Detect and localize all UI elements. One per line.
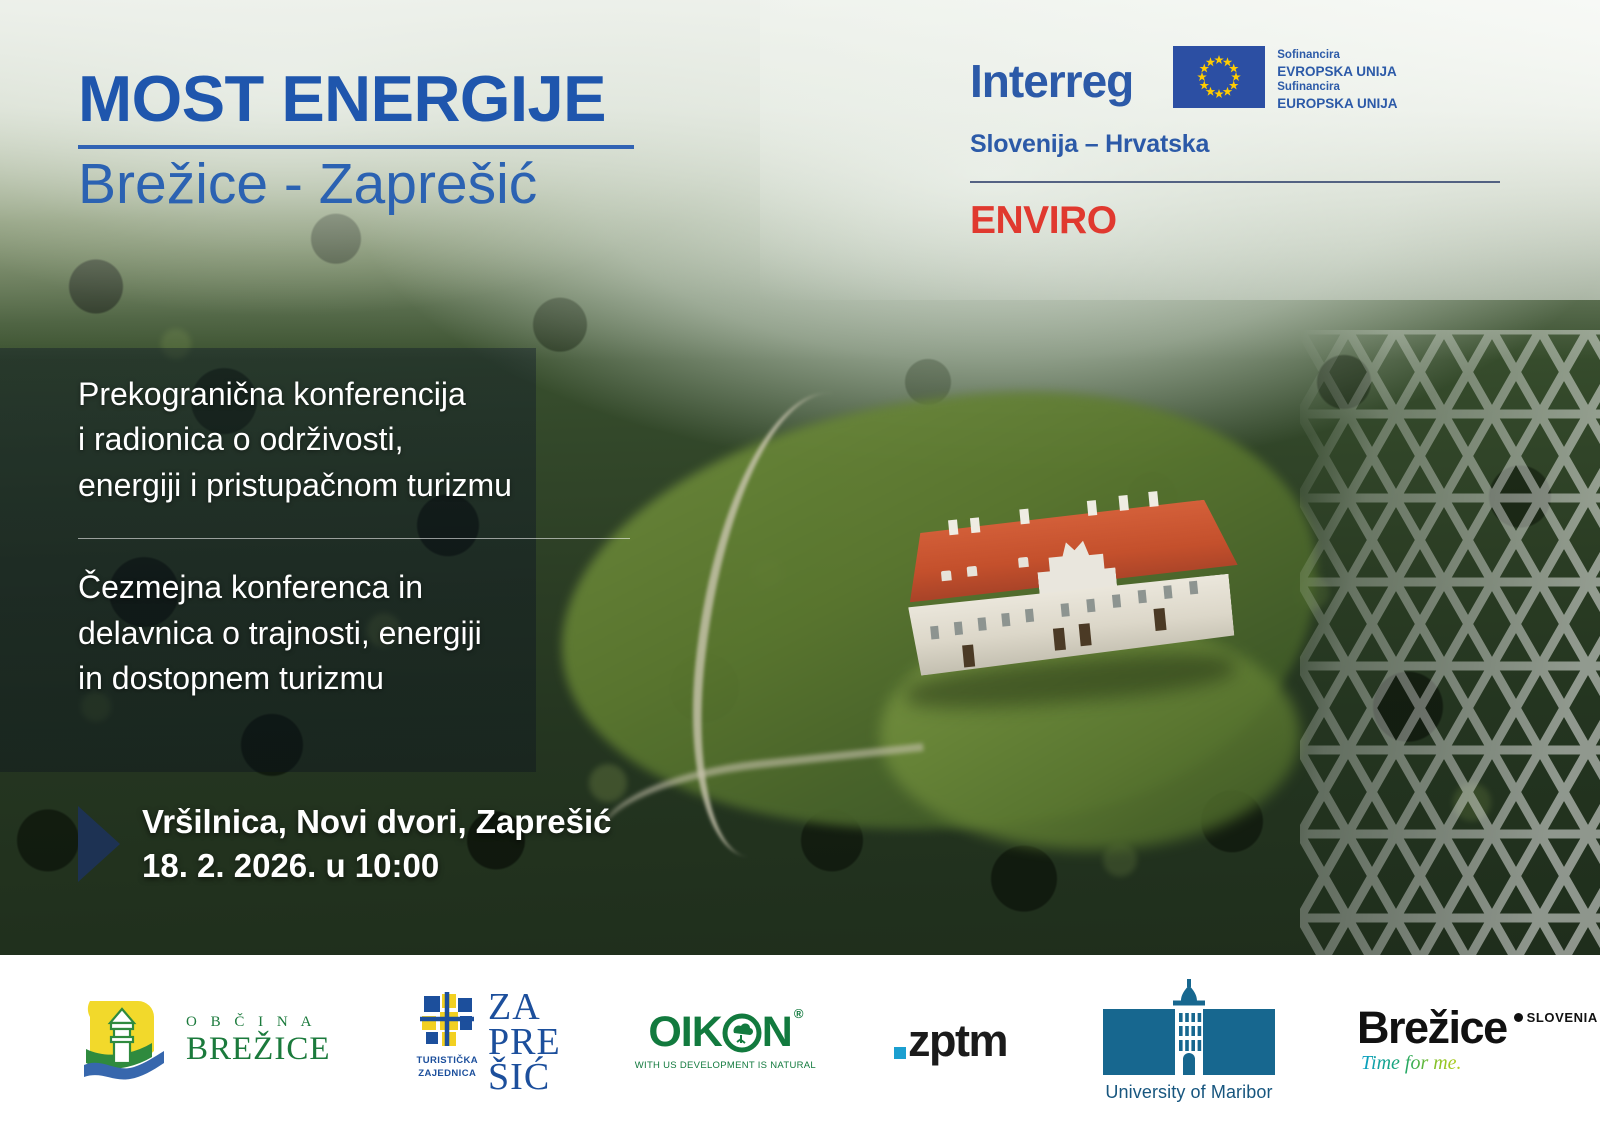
university-of-maribor-building-icon — [1103, 979, 1275, 1075]
manor-dormer — [941, 570, 952, 581]
paragraph-slovenian: Čezmejna konferenca in delavnica o trajn… — [78, 565, 688, 701]
body-text-block: Prekogranična konferencija i radionica o… — [78, 372, 688, 702]
manor-dormer — [1018, 557, 1029, 568]
manor-window — [1163, 585, 1172, 599]
zptm-dot-icon — [894, 1047, 906, 1059]
logo-obcina-brezice: O B Č I N A BREŽICE — [76, 991, 331, 1091]
eu-cofunding-sl-label: Sofinancira — [1277, 48, 1397, 63]
european-union-flag-icon — [1173, 46, 1265, 108]
brezice-wordmark: Brežice — [1357, 1006, 1507, 1049]
oikon-word-post: N — [762, 1011, 792, 1054]
manor-chimney — [1148, 491, 1158, 507]
manor-door — [1053, 628, 1066, 651]
header-divider — [970, 181, 1500, 183]
obcina-label: O B Č I N A — [186, 1015, 331, 1030]
zapresic-sub-line1: TURISTIČKA — [417, 1055, 479, 1068]
brezice-dot-icon — [1514, 1013, 1523, 1022]
zapresic-word-line2: PRE — [488, 1025, 561, 1060]
logo-brezice-slovenia: Brežice SLOVENIA Time for me. — [1357, 1006, 1598, 1074]
venue-place: Vršilnica, Novi dvori, Zaprešić — [142, 800, 612, 844]
zapresic-cross-icon — [418, 990, 476, 1048]
venue-block: Vršilnica, Novi dvori, Zaprešić 18. 2. 2… — [78, 800, 612, 887]
manor-door — [962, 645, 975, 668]
manor-window — [1086, 599, 1095, 613]
manor-window — [1001, 613, 1010, 627]
manor-window — [1189, 581, 1198, 595]
paragraph-croatian: Prekogranična konferencija i radionica o… — [78, 372, 688, 508]
manor-window — [978, 617, 987, 631]
oikon-word-pre: OIK — [648, 1011, 721, 1054]
play-triangle-icon — [78, 806, 120, 882]
oikon-tagline: WITH US DEVELOPMENT IS NATURAL — [635, 1060, 816, 1071]
manor-door — [1079, 623, 1092, 646]
eu-cofunding-text: Sofinancira EVROPSKA UNIJA Sufinancira E… — [1277, 46, 1397, 112]
university-of-maribor-caption: University of Maribor — [1105, 1082, 1272, 1103]
page-subtitle: Brežice - Zaprešić — [78, 155, 778, 215]
manor-door — [1153, 608, 1166, 631]
interreg-logo-block: Interreg — [970, 46, 1530, 243]
brezice-country: SLOVENIA — [1527, 1010, 1598, 1025]
zapresic-word-line1: ZA — [488, 990, 561, 1025]
manor-window — [954, 621, 963, 635]
obcina-brezice-crest-icon — [76, 991, 172, 1091]
oikon-tree-icon — [722, 1011, 762, 1053]
page-title: MOST ENERGIJE — [78, 66, 778, 131]
manor-window — [1061, 603, 1070, 617]
registered-trademark-icon: ® — [794, 1007, 803, 1020]
brezice-tagline: Time for me. — [1361, 1052, 1462, 1075]
venue-lines: Vršilnica, Novi dvori, Zaprešić 18. 2. 2… — [142, 800, 612, 887]
eu-cofunding-hr-label: Sufinancira — [1277, 80, 1397, 95]
manor-window — [1112, 594, 1121, 608]
logo-turisticka-zajednica-zapresic: TURISTIČKA ZAJEDNICA ZA PRE ŠIĆ — [417, 986, 561, 1095]
manor-chimney — [948, 519, 958, 535]
footer-logo-bar: O B Č I N A BREŽICE — [0, 955, 1600, 1126]
logo-oikon: OIK N ® WITH US DEVELOPMENT IS NATURAL — [635, 1011, 816, 1071]
manor-house-novi-dvori — [892, 489, 1248, 706]
title-block: MOST ENERGIJE Brežice - Zaprešić — [78, 66, 778, 215]
manor-window — [1138, 590, 1147, 604]
manor-window — [930, 626, 939, 640]
venue-datetime: 18. 2. 2026. u 10:00 — [142, 844, 612, 888]
manor-window — [1025, 609, 1034, 623]
eu-cofunding-hr-value: EUROPSKA UNIJA — [1277, 95, 1397, 112]
manor-chimney — [1019, 509, 1029, 525]
manor-dormer — [967, 566, 978, 577]
zapresic-word-line3: ŠIĆ — [488, 1060, 561, 1095]
logo-zptm: zptm — [894, 1018, 1007, 1063]
truss-lattice-overlay — [1300, 330, 1600, 955]
event-poster: MOST ENERGIJE Brežice - Zaprešić Interre… — [0, 0, 1600, 1126]
paragraph-divider — [78, 538, 630, 539]
eu-cofunding-sl-value: EVROPSKA UNIJA — [1277, 63, 1397, 80]
zapresic-sub-line2: ZAJEDNICA — [417, 1068, 479, 1081]
project-name: ENVIRO — [970, 199, 1530, 243]
logo-university-of-maribor: University of Maribor — [1103, 979, 1275, 1103]
manor-chimney — [1118, 495, 1128, 511]
programme-name: Slovenija – Hrvatska — [970, 130, 1530, 159]
obcina-name: BREŽICE — [186, 1033, 331, 1066]
manor-chimney — [1087, 500, 1097, 516]
manor-chimney — [970, 517, 980, 533]
interreg-wordmark: Interreg — [970, 46, 1133, 104]
zptm-wordmark: zptm — [908, 1018, 1007, 1063]
title-divider — [78, 145, 634, 149]
